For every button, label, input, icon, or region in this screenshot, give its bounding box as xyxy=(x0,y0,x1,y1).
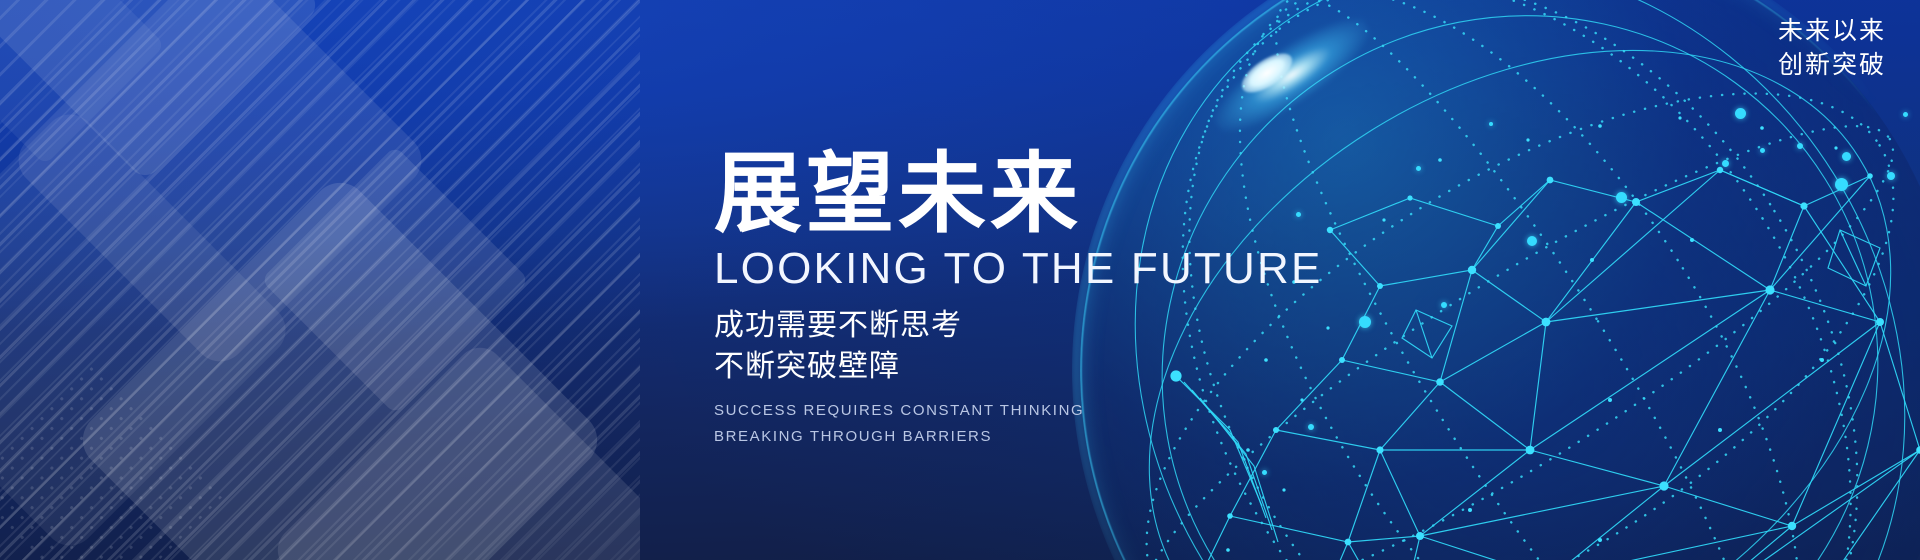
subhead-en: SUCCESS REQUIRES CONSTANT THINKING BREAK… xyxy=(714,398,1414,451)
headline-block: 展望未来 LOOKING TO THE FUTURE 成功需要不断思考 不断突破… xyxy=(714,150,1414,450)
subhead-cn-line-2: 不断突破壁障 xyxy=(714,347,1414,388)
subhead-en-line-2: BREAKING THROUGH BARRIERS xyxy=(714,424,1414,450)
left-geometric-pattern xyxy=(0,0,640,560)
corner-slogan-line-2: 创新突破 xyxy=(1778,48,1886,82)
subhead-en-line-1: SUCCESS REQUIRES CONSTANT THINKING xyxy=(714,398,1414,424)
subhead-cn: 成功需要不断思考 不断突破壁障 xyxy=(714,306,1414,388)
subhead-cn-line-1: 成功需要不断思考 xyxy=(714,306,1414,347)
promo-banner: 展望未来 LOOKING TO THE FUTURE 成功需要不断思考 不断突破… xyxy=(0,0,1920,560)
corner-slogan: 未来以来 创新突破 xyxy=(1778,14,1886,82)
page-title-cn: 展望未来 xyxy=(714,150,1414,238)
page-title-en: LOOKING TO THE FUTURE xyxy=(714,246,1414,292)
corner-slogan-line-1: 未来以来 xyxy=(1778,14,1886,48)
